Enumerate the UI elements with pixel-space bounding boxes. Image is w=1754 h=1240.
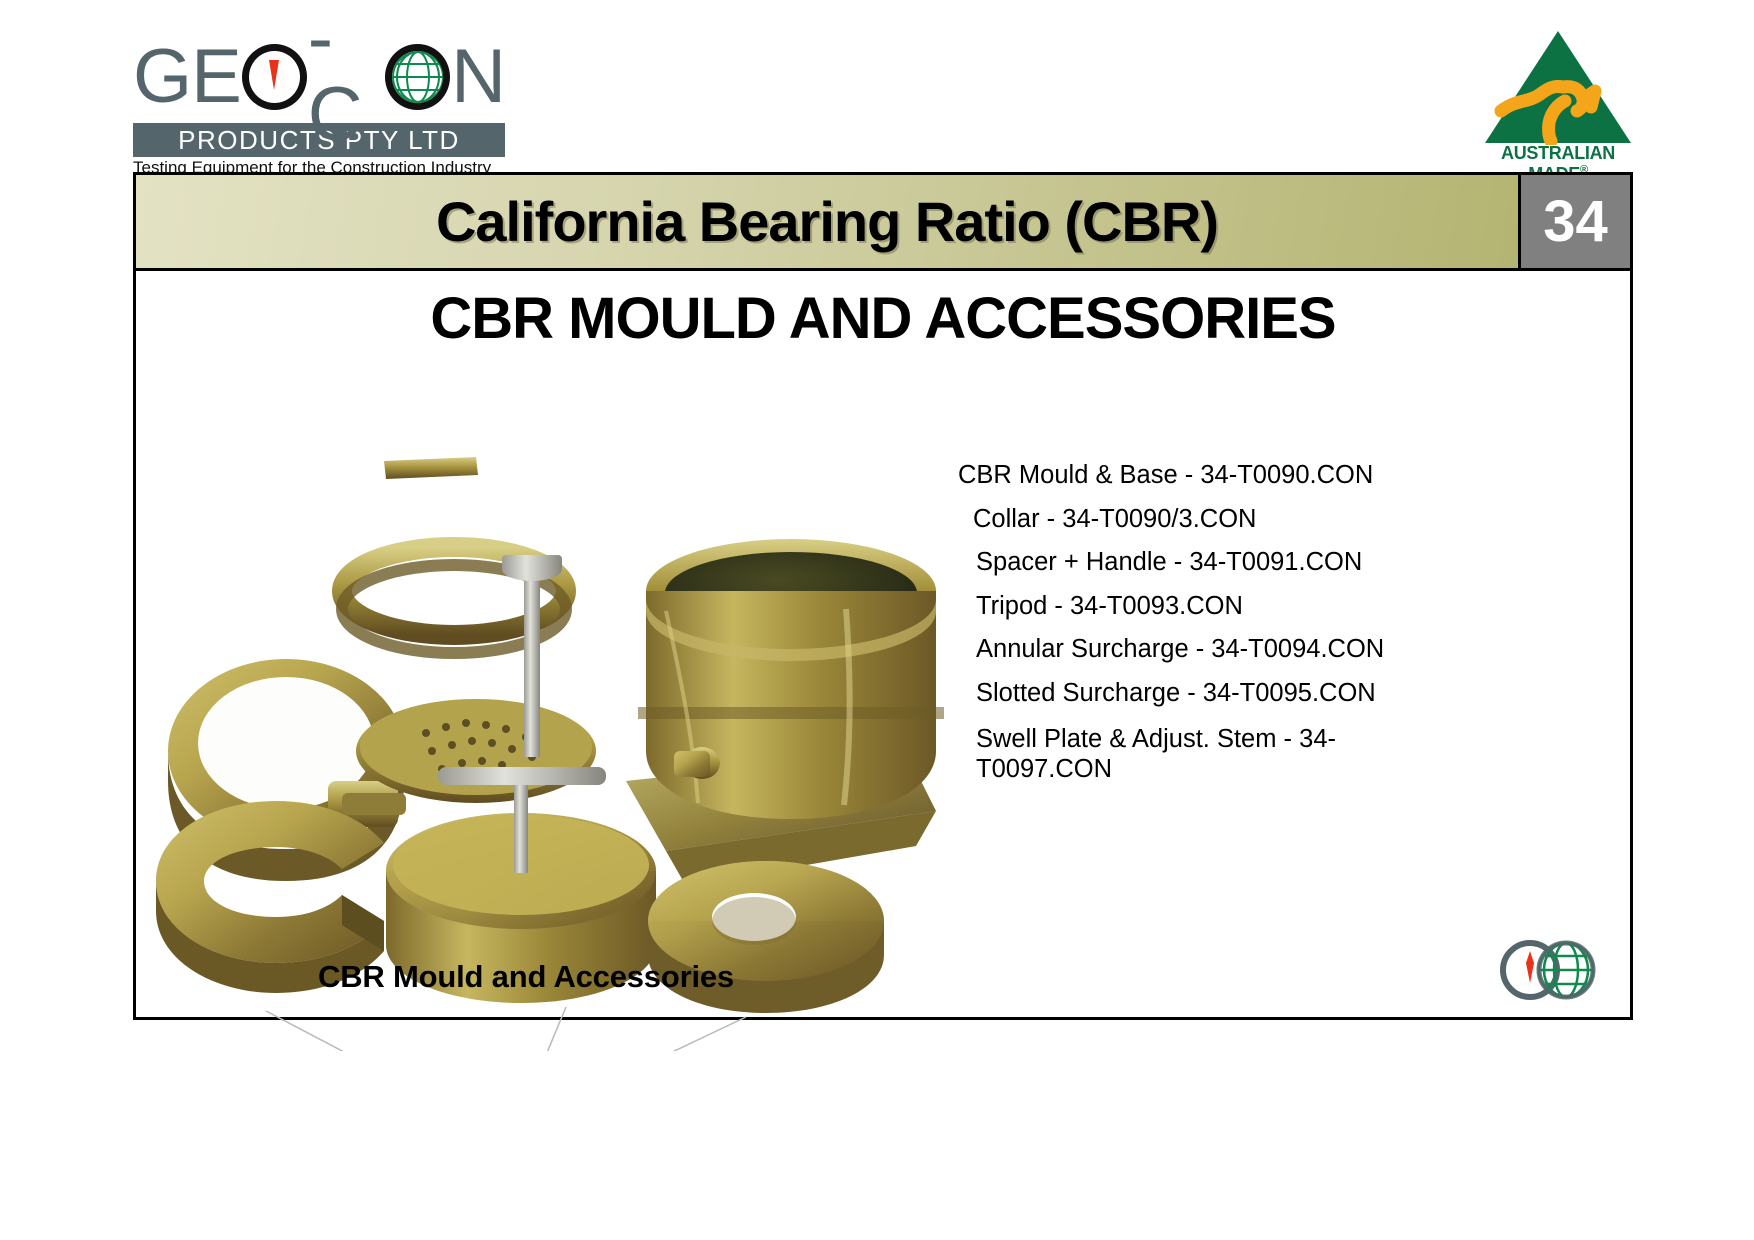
geocon-logo: GE -C N PRODUCTS PTY LTD Testing Equipme… — [133, 33, 505, 168]
wordmark-text-dash-c: -C — [308, 1, 385, 153]
slide-title-container: California Bearing Ratio (CBR) — [136, 175, 1518, 268]
list-item: Annular Surcharge - 34-T0094.CON — [976, 637, 1428, 663]
slide-number-box: 34 — [1518, 175, 1630, 268]
wordmark-text-geo: GE — [133, 39, 241, 115]
globe-icon — [385, 44, 450, 110]
list-item: Slotted Surcharge - 34-T0095.CON — [976, 681, 1428, 707]
australian-made-triangle-icon — [1483, 27, 1633, 145]
gauge-needle-icon — [269, 60, 279, 90]
list-item: Tripod - 34-T0093.CON — [976, 594, 1428, 620]
photo-caption: CBR Mould and Accessories — [136, 959, 916, 995]
page-title: California Bearing Ratio (CBR) — [436, 189, 1218, 254]
cbr-mould-body — [626, 539, 944, 886]
australian-made-logo: AUSTRALIAN MADE® — [1483, 27, 1633, 172]
slide-title-bar: California Bearing Ratio (CBR) 34 — [136, 175, 1630, 271]
photo-leader-lines — [266, 1007, 746, 1051]
slide-frame: California Bearing Ratio (CBR) 34 CBR MO… — [133, 172, 1633, 1020]
section-heading: CBR MOULD AND ACCESSORIES — [136, 271, 1630, 352]
wordmark-text-n: N — [451, 39, 505, 115]
geocon-wordmark: GE -C N — [133, 33, 505, 121]
slide-body: CBR MOULD AND ACCESSORIES CBR Mould & Ba… — [136, 271, 1630, 1020]
list-item: Collar - 34-T0090/3.CON — [973, 507, 1428, 533]
geocon-gauge-globe-icon — [1498, 939, 1602, 1001]
list-item: Swell Plate & Adjust. Stem - 34-T0097.CO… — [976, 724, 1396, 784]
gauge-icon — [242, 44, 307, 110]
list-item: CBR Mould & Base - 34-T0090.CON — [958, 463, 1428, 489]
page-number: 34 — [1543, 188, 1608, 255]
list-item: Spacer + Handle - 34-T0091.CON — [976, 550, 1428, 576]
